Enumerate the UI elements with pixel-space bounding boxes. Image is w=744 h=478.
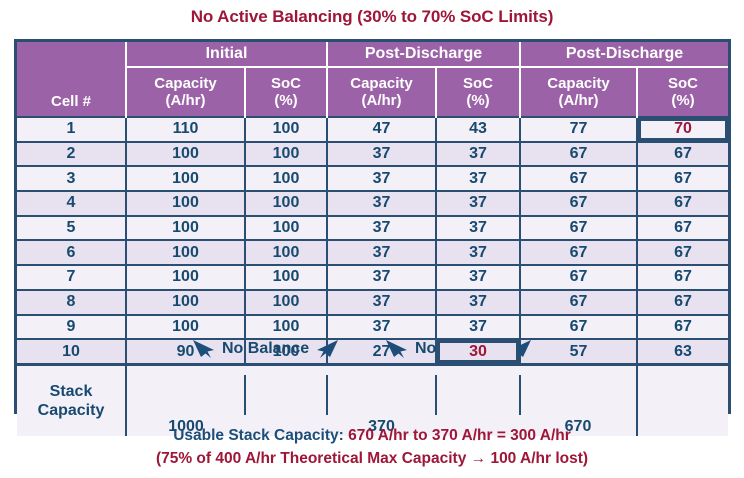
cell-number: 6 [17,240,126,265]
cell-pd2-capacity: 67 [520,265,637,290]
cell-initial-soc: 100 [245,166,327,191]
cell-pd1-soc: 37 [436,191,520,216]
table-row: 7 100 100 37 37 67 67 [17,265,728,290]
table-row: 4 100 100 37 37 67 67 [17,191,728,216]
table-row: 8 100 100 37 37 67 67 [17,290,728,315]
cell-pd2-capacity: 67 [520,240,637,265]
cell-pd2-soc: 67 [637,166,728,191]
cell-initial-capacity: 100 [126,191,245,216]
stack-label-line2: Capacity [17,401,125,420]
footer-line2-text: (75% of 400 A/hr Theoretical Max Capacit… [156,450,588,467]
cell-pd1-capacity: 37 [327,166,436,191]
cell-number: 2 [17,142,126,167]
group-header-initial: Initial [126,42,327,67]
cell-pd2-capacity: 67 [520,191,637,216]
table-row: 1 110 100 47 43 77 70 [17,117,728,142]
cell-initial-capacity: 100 [126,265,245,290]
cell-pd1-capacity: 37 [327,315,436,340]
stack-label-line1: Stack [17,382,125,401]
cell-pd2-capacity: 57 [520,339,637,364]
table-row: 5 100 100 37 37 67 67 [17,216,728,241]
header-text-line1: Capacity [328,75,435,92]
cell-pd2-capacity: 67 [520,142,637,167]
cell-initial-soc: 100 [245,315,327,340]
cell-pd2-soc: 67 [637,315,728,340]
cell-initial-capacity: 100 [126,315,245,340]
cell-initial-soc: 100 [245,290,327,315]
cell-pd2-soc: 67 [637,240,728,265]
cell-pd2-capacity: 77 [520,117,637,142]
cell-pd1-capacity: 37 [327,216,436,241]
stack-divider-stub-4 [519,375,521,415]
cell-initial-capacity: 90 [126,339,245,364]
cell-initial-capacity: 100 [126,290,245,315]
cell-pd1-capacity: 37 [327,240,436,265]
cell-number: 9 [17,315,126,340]
column-header-pd2-soc: SoC (%) [637,67,728,117]
cell-pd1-soc: 43 [436,117,520,142]
cell-pd1-soc: 37 [436,216,520,241]
table-row: 6 100 100 37 37 67 67 [17,240,728,265]
header-text-line2: (A/hr) [127,92,244,109]
cell-pd1-soc-highlighted: 30 [436,339,520,364]
group-header-post-discharge-2: Post-Discharge [520,42,728,67]
cell-pd1-capacity: 37 [327,265,436,290]
cell-number: 7 [17,265,126,290]
group-header-row: Cell # Initial Post-Discharge Post-Disch… [17,42,728,67]
table-row: 10 90 100 27 30 57 63 [17,339,728,364]
cell-initial-soc: 100 [245,117,327,142]
header-text-line1: Capacity [127,75,244,92]
cell-pd2-capacity: 67 [520,290,637,315]
cell-initial-capacity: 100 [126,142,245,167]
header-text-line2: (%) [437,92,519,109]
stack-divider-stub-1 [244,375,246,415]
cell-number: 4 [17,191,126,216]
cell-initial-soc: 100 [245,265,327,290]
table-row: 3 100 100 37 37 67 67 [17,166,728,191]
cell-pd1-soc: 37 [436,142,520,167]
cell-number: 8 [17,290,126,315]
cell-pd2-soc: 67 [637,216,728,241]
cell-pd2-capacity: 67 [520,315,637,340]
column-header-initial-capacity: Capacity (A/hr) [126,67,245,117]
column-header-pd1-capacity: Capacity (A/hr) [327,67,436,117]
header-text-line2: (%) [638,92,728,109]
cell-pd1-capacity: 37 [327,290,436,315]
figure-title: No Active Balancing (30% to 70% SoC Limi… [0,7,744,27]
cell-pd1-soc: 37 [436,290,520,315]
table-body: 1 110 100 47 43 77 70 2 100 100 37 37 67… [17,117,728,436]
cell-pd1-capacity: 37 [327,191,436,216]
cell-number: 1 [17,117,126,142]
slide-figure: No Active Balancing (30% to 70% SoC Limi… [0,0,744,478]
cell-pd2-capacity: 67 [520,166,637,191]
header-text-line1: SoC [437,75,519,92]
cell-number: 5 [17,216,126,241]
cell-initial-capacity: 100 [126,216,245,241]
column-header-pd2-capacity: Capacity (A/hr) [520,67,637,117]
battery-cell-table: Cell # Initial Post-Discharge Post-Disch… [14,39,731,414]
cell-initial-capacity: 110 [126,117,245,142]
cell-pd2-soc: 67 [637,142,728,167]
cell-pd1-capacity: 47 [327,117,436,142]
header-text-line1: SoC [246,75,326,92]
table-grid: Cell # Initial Post-Discharge Post-Disch… [17,42,728,436]
cell-initial-soc: 100 [245,339,327,364]
cell-pd2-soc: 63 [637,339,728,364]
cell-initial-soc: 100 [245,142,327,167]
cell-pd2-capacity: 67 [520,216,637,241]
footer-line-2: (75% of 400 A/hr Theoretical Max Capacit… [0,447,744,470]
header-text-line2: (%) [246,92,326,109]
figure-footer: Usable Stack Capacity: 670 A/hr to 370 A… [0,424,744,470]
column-header-pd1-soc: SoC (%) [436,67,520,117]
cell-pd1-soc: 37 [436,265,520,290]
cell-number: 10 [17,339,126,364]
header-text-line1: SoC [638,75,728,92]
stack-divider-stub-2 [326,375,328,415]
table-row: 2 100 100 37 37 67 67 [17,142,728,167]
header-text-line2: (A/hr) [521,92,636,109]
cell-pd2-soc: 67 [637,290,728,315]
cell-pd2-soc-highlighted: 70 [637,117,728,142]
cell-initial-soc: 100 [245,216,327,241]
header-text-line2: (A/hr) [328,92,435,109]
cell-pd2-soc: 67 [637,191,728,216]
cell-initial-capacity: 100 [126,166,245,191]
cell-initial-soc: 100 [245,191,327,216]
table-header: Cell # Initial Post-Discharge Post-Disch… [17,42,728,117]
cell-initial-capacity: 100 [126,240,245,265]
group-header-post-discharge-1: Post-Discharge [327,42,520,67]
cell-pd1-soc: 37 [436,240,520,265]
cell-pd1-soc: 37 [436,166,520,191]
column-header-cell-number: Cell # [17,42,126,117]
cell-number: 3 [17,166,126,191]
cell-pd1-capacity: 37 [327,142,436,167]
footer-line1-label: Usable Stack Capacity: [173,427,348,444]
cell-pd1-soc: 37 [436,315,520,340]
cell-pd2-soc: 67 [637,265,728,290]
footer-line1-value: 670 A/hr to 370 A/hr = 300 A/hr [348,427,571,444]
cell-pd1-capacity: 27 [327,339,436,364]
column-header-initial-soc: SoC (%) [245,67,327,117]
cell-initial-soc: 100 [245,240,327,265]
table-row: 9 100 100 37 37 67 67 [17,315,728,340]
stack-divider-stub-3 [435,375,437,415]
header-text-line1: Capacity [521,75,636,92]
footer-line-1: Usable Stack Capacity: 670 A/hr to 370 A… [0,424,744,447]
